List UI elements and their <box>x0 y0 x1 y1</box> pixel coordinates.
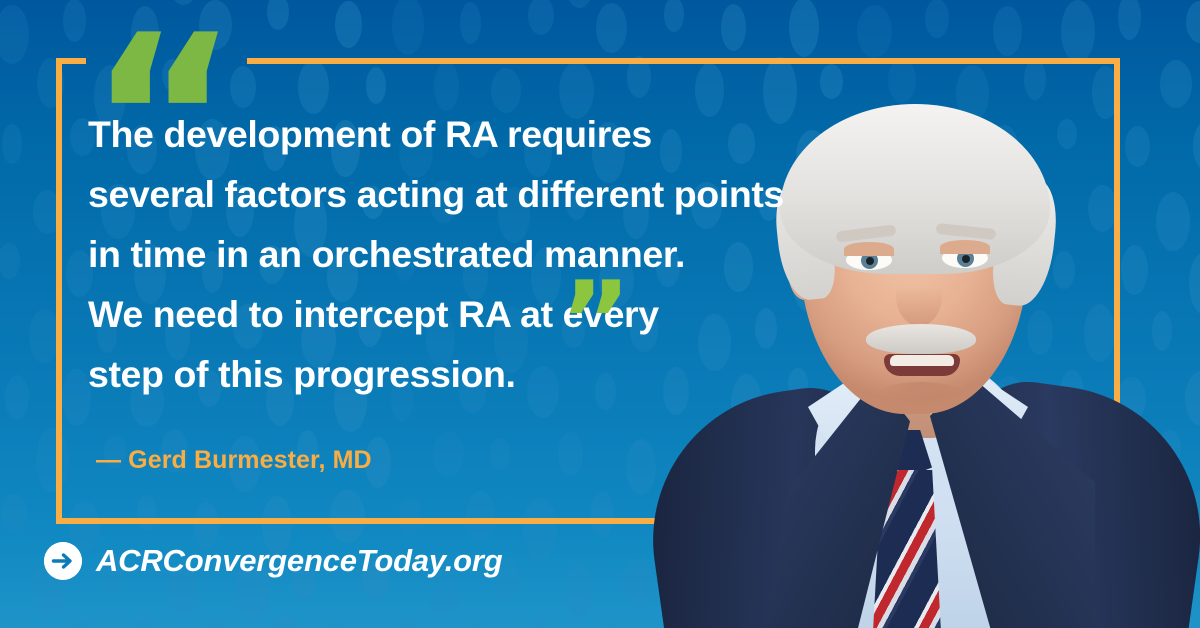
quote-card: “ The development of RA requires several… <box>0 0 1200 628</box>
quote-text: The development of RA requires several f… <box>88 104 888 404</box>
pupil-right <box>962 255 970 263</box>
arrow-right-circle-icon <box>44 542 82 580</box>
teeth <box>890 355 954 366</box>
chin <box>878 382 964 406</box>
site-url-footer[interactable]: ACRConvergenceToday.org <box>44 542 503 580</box>
nose <box>896 266 942 326</box>
eyelid-right <box>940 240 990 254</box>
frame-left-line <box>56 58 62 524</box>
site-url-label: ACRConvergenceToday.org <box>96 543 503 579</box>
closing-quote-mark: ” <box>560 268 628 376</box>
quote-attribution: — Gerd Burmester, MD <box>96 446 372 475</box>
